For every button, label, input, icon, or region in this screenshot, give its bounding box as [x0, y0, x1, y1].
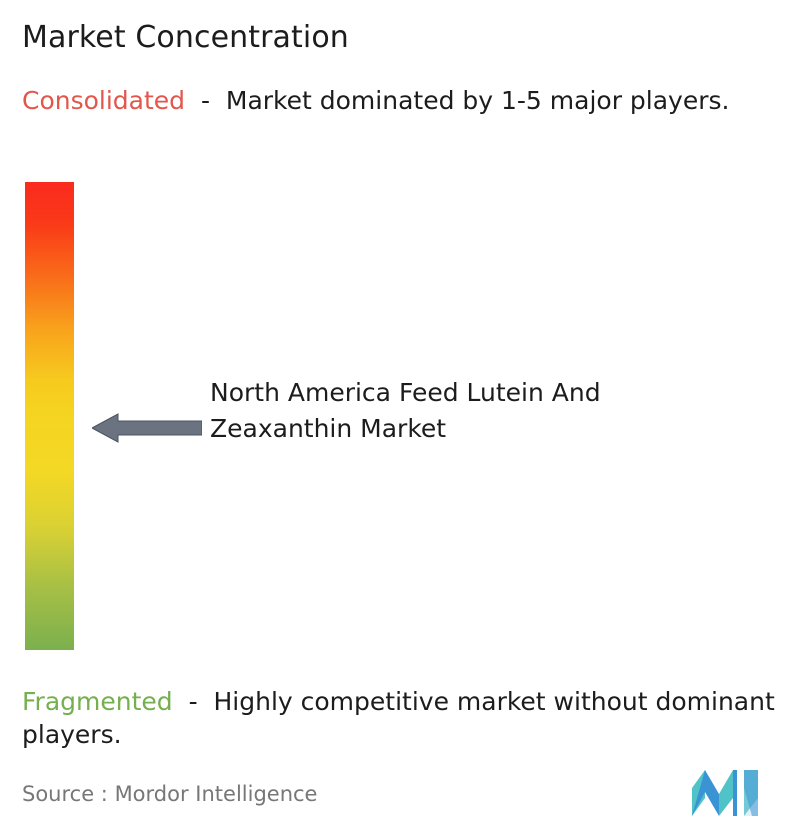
consolidated-legend-row: Consolidated - Market dominated by 1-5 m…	[22, 84, 774, 117]
source-value: Mordor Intelligence	[115, 782, 318, 806]
page-title: Market Concentration	[22, 20, 349, 55]
fragmented-legend-row: Fragmented - Highly competitive market w…	[22, 685, 787, 751]
consolidated-separator: -	[185, 86, 226, 115]
consolidated-label: Consolidated	[22, 86, 185, 115]
concentration-gradient-bar	[25, 182, 74, 650]
source-label: Source :	[22, 782, 115, 806]
left-arrow-icon	[92, 412, 202, 444]
fragmented-label: Fragmented	[22, 687, 173, 716]
source-attribution: Source : Mordor Intelligence	[22, 782, 317, 806]
mordor-intelligence-logo-icon	[692, 770, 768, 816]
market-name-callout: North America Feed Lutein And Zeaxanthin…	[210, 375, 630, 447]
fragmented-separator: -	[173, 687, 214, 716]
consolidated-description: Market dominated by 1-5 major players.	[226, 86, 730, 115]
market-concentration-infographic: Market Concentration Consolidated - Mark…	[0, 0, 796, 834]
